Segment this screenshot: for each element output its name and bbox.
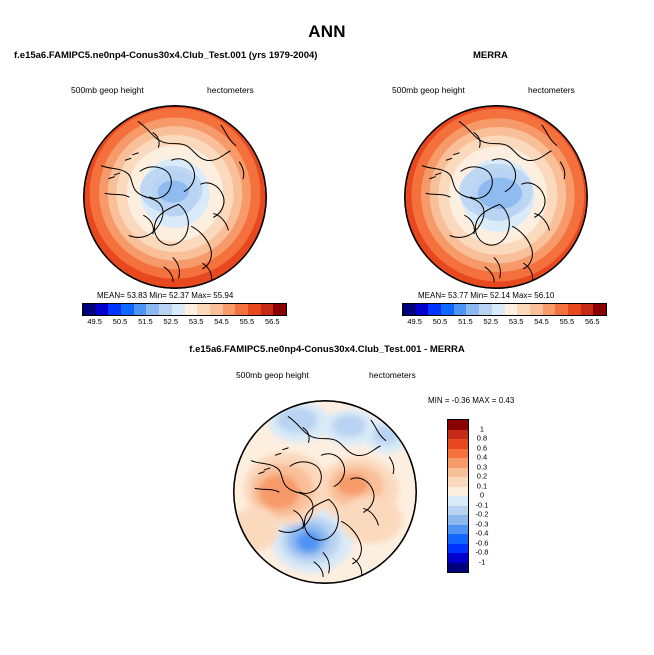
colorbar-tick-label: 51.5 — [458, 317, 473, 326]
colorbar-swatch — [448, 544, 468, 554]
colorbar-swatch — [555, 304, 568, 315]
right-colorbar-ticks: 49.550.551.552.553.554.555.556.5 — [402, 317, 605, 329]
colorbar-tick-label: 0.2 — [471, 472, 493, 481]
colorbar-swatch — [448, 534, 468, 544]
colorbar-swatch — [568, 304, 581, 315]
colorbar-tick-label: -0.3 — [471, 519, 493, 528]
colorbar-swatch — [530, 304, 543, 315]
colorbar-swatch — [108, 304, 121, 315]
colorbar-tick-label: 0.1 — [471, 481, 493, 490]
colorbar-swatch — [448, 449, 468, 459]
diff-panel-field-label: 500mb geop height — [236, 370, 309, 380]
diff-colorbar — [447, 419, 469, 573]
colorbar-tick-label: 55.5 — [560, 317, 575, 326]
left-panel-stats: MEAN= 53.83 Min= 52.37 Max= 55.94 — [97, 291, 233, 300]
left-panel-units-label: hectometers — [207, 85, 254, 95]
left-map-contours — [83, 105, 267, 289]
colorbar-tick-label: -0.4 — [471, 529, 493, 538]
left-colorbar-ticks: 49.550.551.552.553.554.555.556.5 — [82, 317, 285, 329]
colorbar-tick-label: 54.5 — [214, 317, 229, 326]
right-panel-map — [404, 105, 588, 289]
colorbar-swatch — [448, 563, 468, 573]
colorbar-swatch — [83, 304, 96, 315]
colorbar-tick-label: 56.5 — [265, 317, 280, 326]
colorbar-swatch — [197, 304, 210, 315]
colorbar-tick-label: 55.5 — [240, 317, 255, 326]
diff-panel-title: f.e15a6.FAMIPC5.ne0np4-Conus30x4.Club_Te… — [0, 344, 654, 355]
left-panel-map — [83, 105, 267, 289]
colorbar-swatch — [448, 439, 468, 449]
colorbar-tick-label: 50.5 — [113, 317, 128, 326]
left-colorbar — [82, 303, 287, 316]
right-panel-title: MERRA — [473, 50, 508, 61]
colorbar-swatch — [593, 304, 606, 315]
page-title: ANN — [0, 22, 654, 42]
colorbar-swatch — [448, 430, 468, 440]
colorbar-tick-label: 52.5 — [164, 317, 179, 326]
right-colorbar — [402, 303, 607, 316]
colorbar-swatch — [448, 496, 468, 506]
colorbar-swatch — [505, 304, 518, 315]
colorbar-swatch — [416, 304, 429, 315]
right-panel-units-label: hectometers — [528, 85, 575, 95]
colorbar-tick-label: 50.5 — [433, 317, 448, 326]
colorbar-swatch — [146, 304, 159, 315]
colorbar-tick-label: -1 — [471, 557, 493, 566]
colorbar-swatch — [448, 506, 468, 516]
colorbar-tick-label: -0.1 — [471, 500, 493, 509]
colorbar-swatch — [403, 304, 416, 315]
diff-panel-stats: MIN = -0.36 MAX = 0.43 — [428, 396, 514, 405]
colorbar-tick-label: -0.2 — [471, 510, 493, 519]
colorbar-tick-label: 0.8 — [471, 434, 493, 443]
colorbar-swatch — [428, 304, 441, 315]
colorbar-swatch — [223, 304, 236, 315]
colorbar-tick-label: 0.3 — [471, 462, 493, 471]
colorbar-swatch — [448, 468, 468, 478]
colorbar-tick-label: 0.6 — [471, 443, 493, 452]
colorbar-swatch — [185, 304, 198, 315]
colorbar-tick-label: -0.8 — [471, 548, 493, 557]
colorbar-swatch — [543, 304, 556, 315]
diff-panel-map — [233, 400, 417, 584]
colorbar-swatch — [448, 515, 468, 525]
colorbar-tick-label: 51.5 — [138, 317, 153, 326]
left-panel-title: f.e15a6.FAMIPC5.ne0np4-Conus30x4.Club_Te… — [14, 50, 317, 61]
colorbar-tick-label: 53.5 — [509, 317, 524, 326]
colorbar-swatch — [581, 304, 594, 315]
right-panel-stats: MEAN= 53.77 Min= 52.14 Max= 56.10 — [418, 291, 554, 300]
right-map-contours — [404, 105, 588, 289]
colorbar-swatch — [172, 304, 185, 315]
colorbar-swatch — [448, 420, 468, 430]
colorbar-tick-label: 56.5 — [585, 317, 600, 326]
colorbar-swatch — [248, 304, 261, 315]
colorbar-tick-label: 49.5 — [407, 317, 422, 326]
colorbar-swatch — [448, 458, 468, 468]
left-panel-field-label: 500mb geop height — [71, 85, 144, 95]
colorbar-swatch — [441, 304, 454, 315]
colorbar-tick-label: 53.5 — [189, 317, 204, 326]
colorbar-swatch — [448, 525, 468, 535]
colorbar-swatch — [159, 304, 172, 315]
colorbar-swatch — [261, 304, 274, 315]
colorbar-tick-label: 0 — [471, 491, 493, 500]
colorbar-tick-label: -0.6 — [471, 538, 493, 547]
colorbar-tick-label: 52.5 — [484, 317, 499, 326]
colorbar-swatch — [454, 304, 467, 315]
right-panel-field-label: 500mb geop height — [392, 85, 465, 95]
colorbar-swatch — [121, 304, 134, 315]
diff-map-contours — [233, 400, 417, 584]
colorbar-tick-label: 54.5 — [534, 317, 549, 326]
colorbar-swatch — [210, 304, 223, 315]
colorbar-swatch — [517, 304, 530, 315]
colorbar-tick-label: 0.4 — [471, 453, 493, 462]
colorbar-swatch — [235, 304, 248, 315]
colorbar-swatch — [479, 304, 492, 315]
colorbar-swatch — [466, 304, 479, 315]
colorbar-swatch — [96, 304, 109, 315]
colorbar-tick-label: 1 — [471, 424, 493, 433]
colorbar-swatch — [448, 487, 468, 497]
colorbar-swatch — [273, 304, 286, 315]
colorbar-swatch — [448, 553, 468, 563]
diff-panel-units-label: hectometers — [369, 370, 416, 380]
colorbar-swatch — [492, 304, 505, 315]
colorbar-swatch — [134, 304, 147, 315]
colorbar-tick-label: 49.5 — [87, 317, 102, 326]
diff-colorbar-ticks: 10.80.60.40.30.20.10-0.1-0.2-0.3-0.4-0.6… — [471, 419, 495, 571]
colorbar-swatch — [448, 477, 468, 487]
